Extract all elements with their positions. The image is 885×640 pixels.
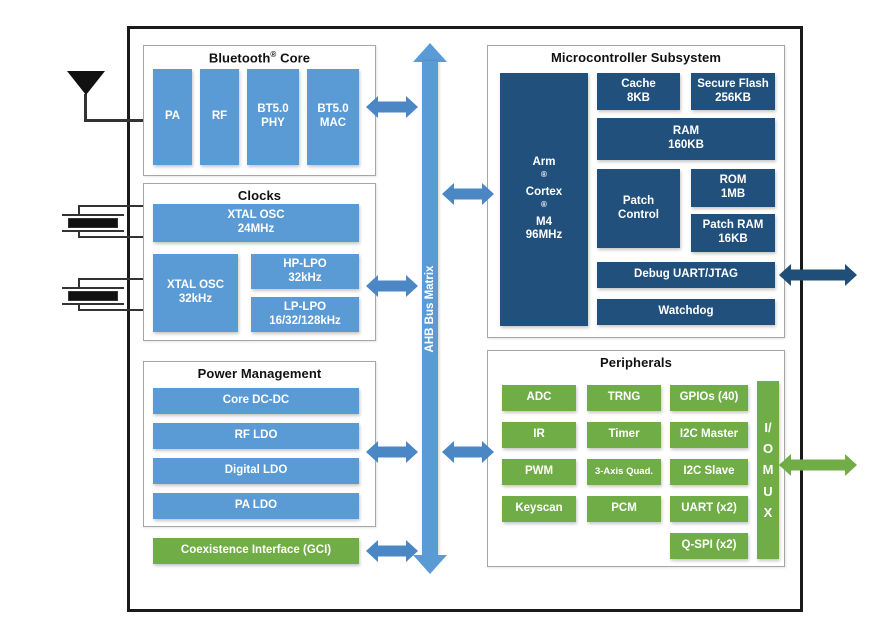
block-pa-ldo[interactable]: PA LDO [153, 493, 359, 519]
block-watchdog[interactable]: Watchdog [597, 299, 775, 325]
block-label-line1: RAM [668, 125, 704, 139]
block-label-line2: 160KB [668, 139, 704, 153]
ahb-bus-matrix[interactable]: AHB Bus Matrix [413, 43, 447, 574]
block-label-line1: Cache [621, 78, 656, 92]
block-adc[interactable]: ADC [502, 385, 576, 411]
block-label: Debug UART/JTAG [634, 268, 738, 282]
block-digital-ldo[interactable]: Digital LDO [153, 458, 359, 484]
block-label: PA LDO [235, 499, 277, 513]
bus-arrow-up-icon [413, 43, 447, 62]
block-label-line1: XTAL OSC [167, 279, 224, 293]
cpu-line1: Arm® [526, 156, 562, 186]
block-label: TRNG [608, 391, 641, 405]
block-label-line2: Control [618, 209, 659, 223]
block-i2c-slave[interactable]: I2C Slave [670, 459, 748, 485]
arrow-io-mux-external [779, 452, 857, 478]
block-gpios[interactable]: GPIOs (40) [670, 385, 748, 411]
block-i2c-master[interactable]: I2C Master [670, 422, 748, 448]
block-rf[interactable]: RF [200, 69, 239, 165]
block-uart-x2[interactable]: UART (x2) [670, 496, 748, 522]
block-label-line1: Patch [618, 195, 659, 209]
block-io-mux[interactable]: I/ O M U X [757, 381, 779, 559]
block-label: Watchdog [658, 305, 713, 319]
block-label: GPIOs (40) [680, 391, 739, 405]
block-label-line2: 256KB [697, 92, 769, 106]
block-pcm[interactable]: PCM [587, 496, 661, 522]
block-label: Timer [608, 428, 639, 442]
block-label: PCM [611, 502, 637, 516]
cpu-line2: Cortex® M4 [526, 186, 562, 230]
registered-mark-icon: ® [541, 200, 547, 209]
block-label-line2: 16/32/128kHz [269, 315, 341, 329]
block-diagram-canvas: Bluetooth® Core PA RF BT5.0 PHY BT5.0 MA… [0, 0, 885, 640]
block-arm-cortex-m4[interactable]: Arm® Cortex® M4 96MHz [500, 73, 588, 326]
block-label: IR [533, 428, 545, 442]
block-label-line2: PHY [257, 117, 288, 131]
block-secure-flash[interactable]: Secure Flash 256KB [691, 73, 775, 110]
block-label: RF LDO [235, 429, 278, 443]
antenna-stem-wire [84, 94, 87, 122]
block-bt50-mac[interactable]: BT5.0 MAC [307, 69, 359, 165]
panel-title-clocks: Clocks [144, 188, 375, 203]
block-label: I2C Slave [683, 465, 734, 479]
block-rf-ldo[interactable]: RF LDO [153, 423, 359, 449]
crystal-32khz-icon [62, 283, 124, 309]
panel-title-bluetooth-core: Bluetooth® Core [144, 50, 375, 65]
arrow-clocks-to-bus [366, 274, 418, 298]
block-label: ADC [527, 391, 552, 405]
arrow-bluetooth-to-bus [366, 95, 418, 119]
block-label: RF [212, 110, 227, 124]
block-label-line1: Secure Flash [697, 78, 769, 92]
block-ir[interactable]: IR [502, 422, 576, 448]
crystal-24mhz-icon [62, 210, 124, 236]
block-label-line2: MAC [317, 117, 348, 131]
registered-mark-icon: ® [541, 170, 547, 179]
block-label-line2: 32kHz [283, 272, 326, 286]
block-patch-control[interactable]: Patch Control [597, 169, 680, 248]
block-patch-ram[interactable]: Patch RAM 16KB [691, 214, 775, 252]
block-label: UART (x2) [681, 502, 737, 516]
antenna-icon [67, 71, 105, 95]
block-label: 3-Axis Quad. [595, 466, 653, 477]
block-label-line2: 16KB [703, 233, 764, 247]
block-label: Digital LDO [225, 464, 288, 478]
block-q-spi-x2[interactable]: Q-SPI (x2) [670, 533, 748, 559]
block-label: PWM [525, 465, 553, 479]
block-core-dc-dc[interactable]: Core DC-DC [153, 388, 359, 414]
block-label-line1: BT5.0 [257, 103, 288, 117]
block-hp-lpo[interactable]: HP-LPO 32kHz [251, 254, 359, 289]
block-pwm[interactable]: PWM [502, 459, 576, 485]
block-label-line2: 24MHz [227, 223, 284, 237]
block-bt50-phy[interactable]: BT5.0 PHY [247, 69, 299, 165]
block-label: Core DC-DC [223, 394, 289, 408]
block-ram[interactable]: RAM 160KB [597, 118, 775, 160]
panel-title-peripherals: Peripherals [488, 355, 784, 370]
block-rom[interactable]: ROM 1MB [691, 169, 775, 207]
io-mux-letter: X [764, 505, 773, 520]
block-label-line2: 8KB [621, 92, 656, 106]
arrow-debug-uart-external [779, 263, 857, 287]
io-mux-letter: M [763, 462, 774, 477]
block-label: PA [165, 110, 180, 124]
block-debug-uart-jtag[interactable]: Debug UART/JTAG [597, 262, 775, 288]
block-coexistence-interface[interactable]: Coexistence Interface (GCI) [153, 538, 359, 564]
block-3-axis-quad[interactable]: 3-Axis Quad. [587, 459, 661, 485]
block-keyscan[interactable]: Keyscan [502, 496, 576, 522]
block-timer[interactable]: Timer [587, 422, 661, 448]
panel-title-microcontroller-subsystem: Microcontroller Subsystem [488, 50, 784, 65]
block-label-line2: 1MB [720, 188, 747, 202]
block-xtal-osc-24mhz[interactable]: XTAL OSC 24MHz [153, 204, 359, 242]
block-label-line1: Patch RAM [703, 219, 764, 233]
block-label-line1: LP-LPO [269, 301, 341, 315]
arrow-bus-to-microcontroller [442, 182, 494, 206]
block-label-line1: HP-LPO [283, 258, 326, 272]
block-label: Q-SPI (x2) [682, 539, 737, 553]
block-label-line1: ROM [720, 174, 747, 188]
block-pa[interactable]: PA [153, 69, 192, 165]
block-trng[interactable]: TRNG [587, 385, 661, 411]
block-label: I2C Master [680, 428, 738, 442]
io-mux-letter: U [763, 484, 772, 499]
io-mux-letter: O [763, 441, 773, 456]
block-label: Keyscan [515, 502, 562, 516]
arrow-bus-to-peripherals [442, 440, 494, 464]
block-label-line1: BT5.0 [317, 103, 348, 117]
panel-title-power-management: Power Management [144, 366, 375, 381]
block-label-line1: XTAL OSC [227, 209, 284, 223]
block-cache[interactable]: Cache 8KB [597, 73, 680, 110]
arrow-power-management-to-bus [366, 440, 418, 464]
block-lp-lpo[interactable]: LP-LPO 16/32/128kHz [251, 297, 359, 332]
ahb-bus-matrix-label: AHB Bus Matrix [424, 265, 436, 352]
block-label: Coexistence Interface (GCI) [181, 544, 331, 558]
cpu-line3: 96MHz [526, 229, 562, 243]
bus-arrow-down-icon [413, 555, 447, 574]
arrow-coexistence-to-bus [366, 539, 418, 563]
block-xtal-osc-32khz[interactable]: XTAL OSC 32kHz [153, 254, 238, 332]
io-mux-letter: I/ [764, 420, 771, 435]
block-label-line2: 32kHz [167, 293, 224, 307]
